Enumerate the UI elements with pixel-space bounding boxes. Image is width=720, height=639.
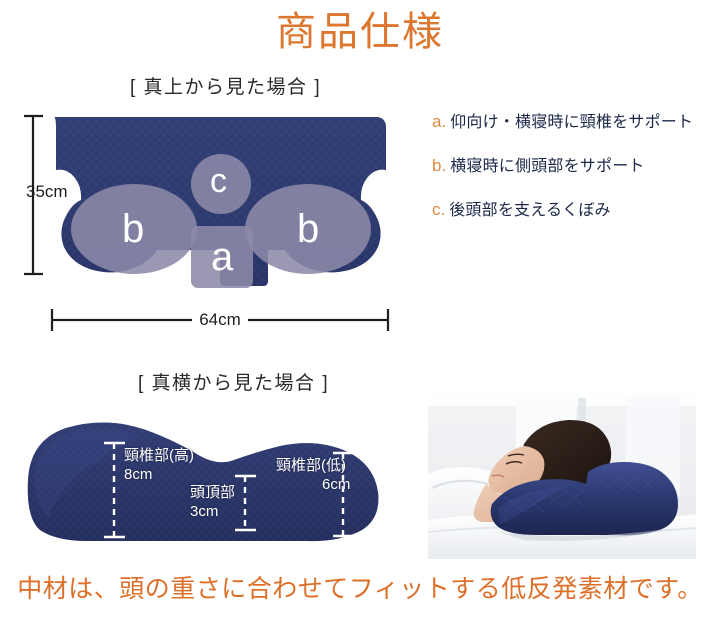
- side-measure-name-crown: 頭頂部: [190, 484, 235, 501]
- pillow-top-illustration: [20, 104, 420, 344]
- dimension-label-height: 35cm: [26, 182, 68, 202]
- bottom-caption: 中材は、頭の重さに合わせてフィットする低反発素材です。: [0, 572, 720, 606]
- zone-b-left: [71, 184, 197, 274]
- section-heading-side-view: [ 真横から見た場合 ]: [138, 372, 329, 396]
- legend-key-c: c.: [432, 200, 445, 220]
- lifestyle-photo: [428, 392, 696, 559]
- legend-item-c: c. 後頭部を支えるくぼみ: [432, 200, 718, 221]
- side-measure-label-cervical-low: 頸椎部(低) 6cm: [276, 456, 350, 494]
- woman-lying-on-pillow-photo: [428, 392, 696, 559]
- side-measure-label-crown: 頭頂部 3cm: [190, 483, 235, 521]
- legend-list: a. 仰向け・横寝時に頸椎をサポート b. 横寝時に側頭部をサポート c. 後頭…: [432, 112, 718, 244]
- legend-text-b: 横寝時に側頭部をサポート: [450, 157, 644, 177]
- side-measure-suffix-cervical-low: (低): [321, 457, 346, 474]
- legend-key-b: b.: [432, 156, 446, 176]
- side-measure-name-cervical-low: 頸椎部: [276, 457, 321, 474]
- top-view-diagram: b c a b 35cm 64cm: [20, 104, 420, 344]
- side-measure-value-cervical-high: 8cm: [124, 466, 152, 483]
- legend-item-a: a. 仰向け・横寝時に頸椎をサポート: [432, 112, 718, 133]
- legend-text-a: 仰向け・横寝時に頸椎をサポート: [450, 113, 693, 133]
- product-spec-infographic: 商品仕様 [ 真上から見た場合 ]: [0, 0, 720, 639]
- page-title: 商品仕様: [0, 6, 720, 58]
- dimension-label-width: 64cm: [20, 310, 420, 330]
- dimension-label-width-text: 64cm: [192, 310, 248, 329]
- zone-c-top: [191, 154, 251, 214]
- side-measure-label-cervical-high: 頸椎部(高) 8cm: [124, 446, 194, 484]
- zone-b-right: [245, 184, 371, 274]
- legend-text-c: 後頭部を支えるくぼみ: [449, 201, 611, 221]
- side-view-diagram: 頸椎部(高) 8cm 頭頂部 3cm 頸椎部(低) 6cm: [18, 408, 418, 558]
- legend-key-a: a.: [432, 112, 446, 132]
- zone-a-center: [191, 226, 253, 288]
- section-heading-top-view: [ 真上から見た場合 ]: [130, 76, 321, 100]
- side-measure-value-crown: 3cm: [190, 503, 218, 520]
- side-measure-value-cervical-low: 6cm: [322, 475, 350, 494]
- side-measure-name-cervical-high: 頸椎部(高): [124, 447, 194, 464]
- legend-item-b: b. 横寝時に側頭部をサポート: [432, 156, 718, 177]
